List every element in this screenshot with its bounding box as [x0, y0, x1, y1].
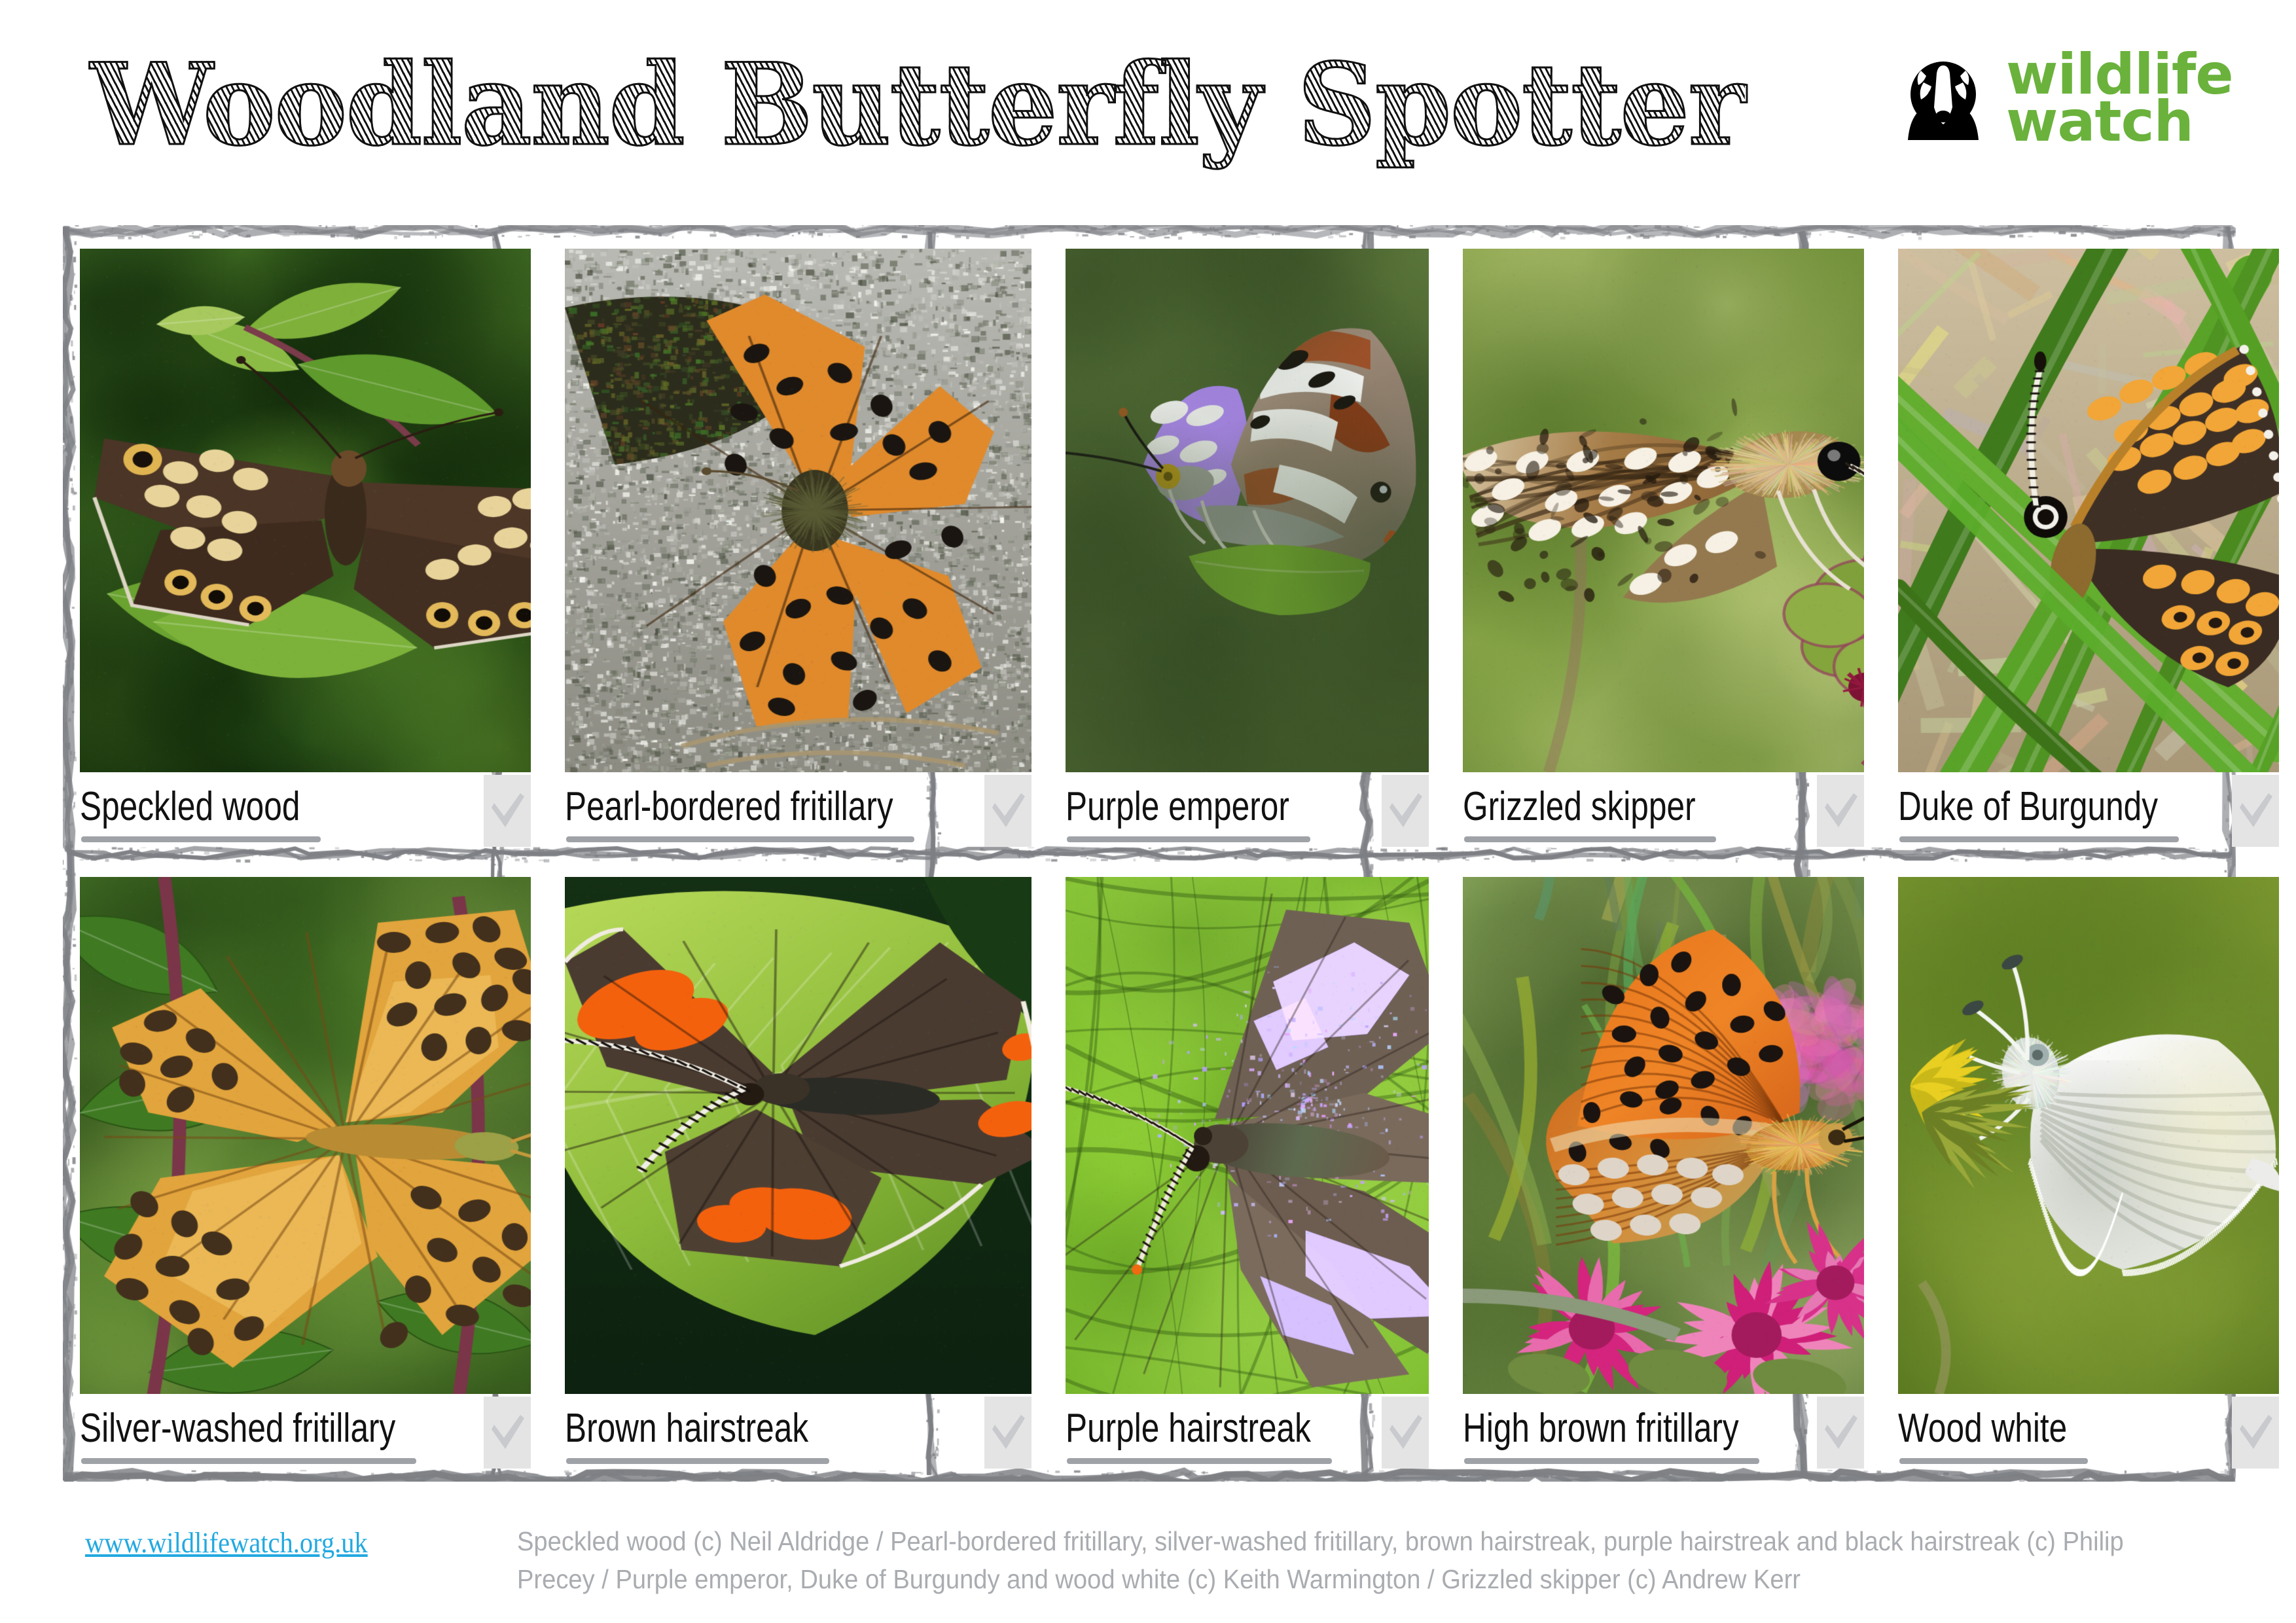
species-name: Pearl-bordered fritillary [565, 787, 893, 827]
card-label-row: Purple hairstreak [1066, 1408, 1429, 1474]
spotted-checkbox[interactable] [1817, 775, 1864, 847]
species-name: Silver-washed fritillary [80, 1408, 395, 1449]
check-tick-icon [988, 1412, 1028, 1453]
butterfly-card[interactable]: Speckled wood [63, 225, 548, 853]
photo-credits: Speckled wood (c) Neil Aldridge / Pearl-… [517, 1522, 1826, 1598]
check-tick-icon [2236, 1412, 2275, 1453]
butterfly-card[interactable]: Pearl-bordered fritillary [548, 225, 1049, 853]
card-label-row: Wood white [1898, 1408, 2279, 1474]
check-tick-icon [488, 791, 527, 831]
butterfly-card[interactable]: Purple emperor [1049, 225, 1446, 853]
card-label-row: High brown fritillary [1463, 1408, 1864, 1474]
species-name-wrap: Purple hairstreak [1066, 1408, 1382, 1449]
butterfly-card[interactable]: Purple hairstreak [1049, 853, 1446, 1482]
photo-canvas [1066, 249, 1429, 772]
high-brown-fritillary-photo [1463, 877, 1864, 1394]
page-header: Woodland Butterfly Spotter wildlife watc… [0, 0, 2296, 209]
species-name-wrap: Purple emperor [1066, 787, 1382, 827]
wildlife-watch-logo: wildlife watch [1901, 51, 2233, 145]
speckled-wood-photo [80, 249, 531, 772]
photo-canvas [80, 877, 531, 1394]
species-name: Grizzled skipper [1463, 787, 1696, 827]
duke-of-burgundy-photo [1898, 249, 2279, 772]
name-underline [81, 1458, 416, 1464]
badger-head-icon [1901, 56, 1985, 140]
photo-canvas [565, 877, 1031, 1394]
butterfly-card[interactable]: Grizzled skipper [1446, 225, 1881, 853]
species-name-wrap: Brown hairstreak [565, 1408, 984, 1449]
spotter-sheet: Speckled woodPearl-bordered fritillaryPu… [63, 225, 2236, 1482]
credit-line-2: Precey / Purple emperor, Duke of Burgund… [517, 1560, 1734, 1598]
brand-wordmark: wildlife watch [2006, 51, 2233, 145]
card-label-row: Pearl-bordered fritillary [565, 787, 1031, 852]
card-label-row: Grizzled skipper [1463, 787, 1864, 852]
photo-canvas [1898, 877, 2279, 1394]
species-name: Duke of Burgundy [1898, 787, 2158, 827]
spotted-checkbox[interactable] [984, 1397, 1031, 1469]
check-tick-icon [1821, 791, 1860, 831]
species-name: Wood white [1898, 1408, 2067, 1449]
photo-canvas [565, 249, 1031, 772]
card-label-row: Speckled wood [80, 787, 531, 852]
card-label-row: Duke of Burgundy [1898, 787, 2279, 852]
species-name: Brown hairstreak [565, 1408, 808, 1449]
species-name-wrap: High brown fritillary [1463, 1408, 1817, 1449]
butterfly-card[interactable]: High brown fritillary [1446, 853, 1881, 1482]
name-underline [1067, 836, 1310, 842]
silver-washed-fritillary-photo [80, 877, 531, 1394]
spotted-checkbox[interactable] [1382, 775, 1429, 847]
spotted-checkbox[interactable] [2232, 1397, 2279, 1469]
photo-canvas [1898, 249, 2279, 772]
name-underline [1899, 1458, 2088, 1464]
spotted-checkbox[interactable] [484, 775, 531, 847]
species-name: Purple hairstreak [1066, 1408, 1311, 1449]
brand-line-2: watch [2006, 98, 2233, 145]
name-underline [566, 1458, 829, 1464]
species-name-wrap: Grizzled skipper [1463, 787, 1817, 827]
check-tick-icon [988, 791, 1028, 831]
name-underline [1067, 1458, 1332, 1464]
spotted-checkbox[interactable] [1817, 1397, 1864, 1469]
spotted-checkbox[interactable] [484, 1397, 531, 1469]
wood-white-photo [1898, 877, 2279, 1394]
check-tick-icon [1821, 1412, 1860, 1453]
photo-canvas [1463, 877, 1864, 1394]
species-name: High brown fritillary [1463, 1408, 1739, 1449]
card-label-row: Purple emperor [1066, 787, 1429, 852]
butterfly-card[interactable]: Wood white [1881, 853, 2296, 1482]
butterfly-card[interactable]: Silver-washed fritillary [63, 853, 548, 1482]
spotted-checkbox[interactable] [1382, 1397, 1429, 1469]
spotted-checkbox[interactable] [2232, 775, 2279, 847]
species-name-wrap: Silver-washed fritillary [80, 1408, 484, 1449]
photo-canvas [1066, 877, 1429, 1394]
check-tick-icon [1386, 1412, 1425, 1453]
page-footer: www.wildlifewatch.org.uk Speckled wood (… [0, 1505, 2296, 1623]
website-link[interactable]: www.wildlifewatch.org.uk [85, 1526, 368, 1560]
species-name-wrap: Duke of Burgundy [1898, 787, 2232, 827]
butterfly-card[interactable]: Duke of Burgundy [1881, 225, 2296, 853]
butterfly-card-grid: Speckled woodPearl-bordered fritillaryPu… [63, 225, 2236, 1482]
purple-hairstreak-photo [1066, 877, 1429, 1394]
name-underline [1899, 836, 2179, 842]
page-title: Woodland Butterfly Spotter [90, 38, 1744, 171]
species-name-wrap: Wood white [1898, 1408, 2232, 1449]
species-name-wrap: Speckled wood [80, 787, 484, 827]
card-label-row: Brown hairstreak [565, 1408, 1031, 1474]
name-underline [81, 836, 321, 842]
spotted-checkbox[interactable] [984, 775, 1031, 847]
name-underline [566, 836, 914, 842]
check-tick-icon [2236, 791, 2275, 831]
card-label-row: Silver-washed fritillary [80, 1408, 531, 1474]
grizzled-skipper-photo [1463, 249, 1864, 772]
species-name: Speckled wood [80, 787, 300, 827]
purple-emperor-photo [1066, 249, 1429, 772]
credit-line-1: Speckled wood (c) Neil Aldridge / Pearl-… [517, 1522, 1734, 1560]
check-tick-icon [1386, 791, 1425, 831]
pearl-bordered-fritillary-photo [565, 249, 1031, 772]
species-name-wrap: Pearl-bordered fritillary [565, 787, 984, 827]
species-name: Purple emperor [1066, 787, 1289, 827]
brown-hairstreak-photo [565, 877, 1031, 1394]
photo-canvas [80, 249, 531, 772]
butterfly-card[interactable]: Brown hairstreak [548, 853, 1049, 1482]
name-underline [1464, 1458, 1760, 1464]
check-tick-icon [488, 1412, 527, 1453]
photo-canvas [1463, 249, 1864, 772]
name-underline [1464, 836, 1717, 842]
